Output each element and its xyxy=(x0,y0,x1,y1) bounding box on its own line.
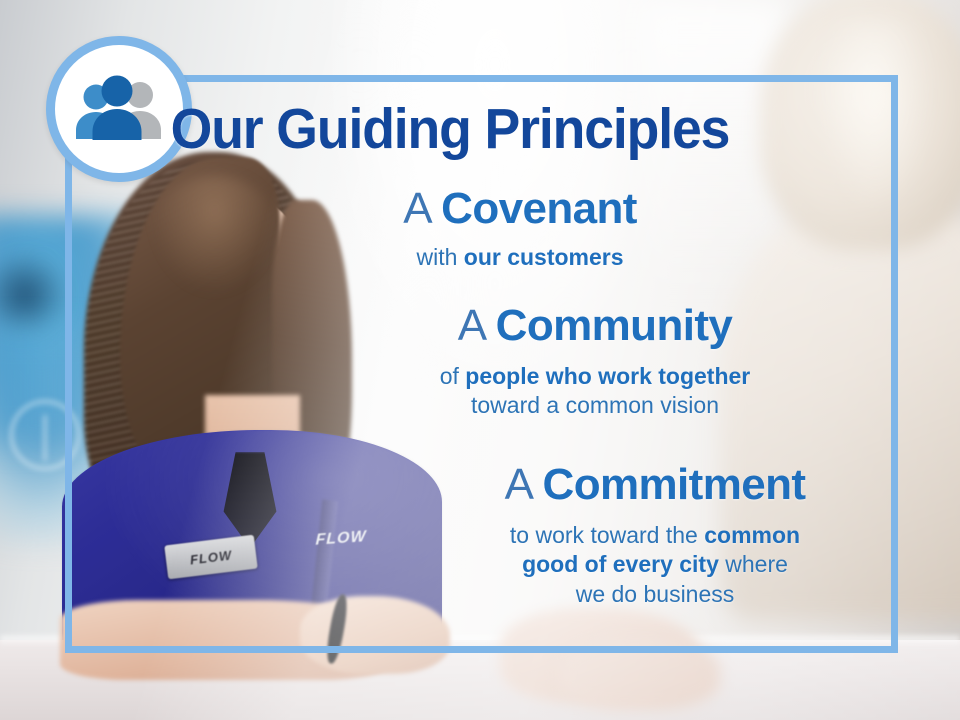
subtext-run-bold: people who work together xyxy=(465,363,750,389)
subtext-run: to work toward the xyxy=(510,522,704,548)
blurred-car-shadow xyxy=(0,250,70,340)
principle-block-covenant: A Covenant with our customers xyxy=(310,186,730,272)
subject-hair-highlight xyxy=(150,175,280,295)
principle-headline-commitment: A Commitment xyxy=(430,462,880,509)
subject-hands xyxy=(300,596,450,674)
principle-article: A xyxy=(505,460,531,509)
subtext-run: with xyxy=(416,244,463,270)
principle-article: A xyxy=(403,184,429,233)
principle-subtext-commitment: to work toward the common good of every … xyxy=(430,521,880,609)
vw-logo-blurred xyxy=(10,400,80,470)
principle-subtext-community: of people who work together toward a com… xyxy=(370,362,820,421)
principle-block-community: A Community of people who work together … xyxy=(370,303,820,421)
customer-hand-second xyxy=(560,640,720,710)
subtext-run-bold: our customers xyxy=(464,244,624,270)
principle-keyword: Community xyxy=(496,301,733,350)
banner-canvas: FLOW FLOW Our Guiding Principles xyxy=(0,0,960,720)
shirt-brand-text: FLOW xyxy=(315,528,367,550)
subtext-run: where xyxy=(719,551,788,577)
page-title: Our Guiding Principles xyxy=(27,96,873,162)
principle-block-commitment: A Commitment to work toward the common g… xyxy=(430,462,880,609)
principle-article: A xyxy=(458,301,484,350)
principle-headline-community: A Community xyxy=(370,303,820,350)
subtext-run: we do business xyxy=(576,581,735,607)
principle-headline-covenant: A Covenant xyxy=(310,186,730,233)
subtext-run-bold: common xyxy=(704,522,800,548)
subtext-run: toward a common vision xyxy=(471,392,719,418)
principle-subtext-covenant: with our customers xyxy=(310,243,730,272)
subtext-run: of xyxy=(440,363,466,389)
principle-keyword: Commitment xyxy=(543,460,806,509)
subtext-run-bold: good of every city xyxy=(522,551,719,577)
principle-keyword: Covenant xyxy=(441,184,637,233)
name-badge-text: FLOW xyxy=(189,547,233,567)
